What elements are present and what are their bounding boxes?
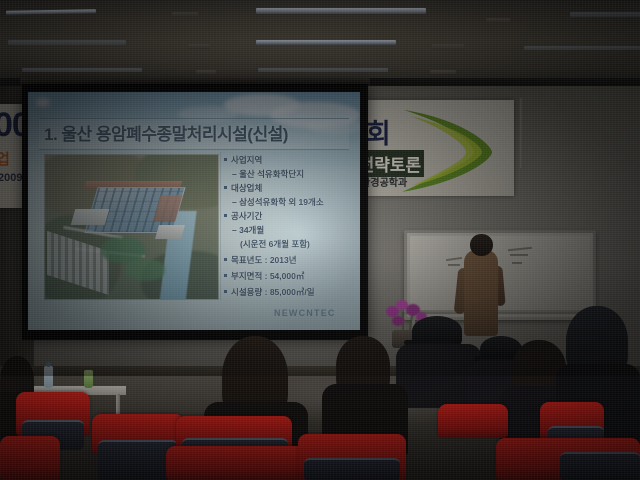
ceiling-light-tube xyxy=(256,40,396,45)
ceiling-light-tube xyxy=(22,68,142,72)
ceiling-vent xyxy=(486,18,510,23)
ceiling-light-tube xyxy=(8,40,126,45)
ceiling-light-tube xyxy=(524,46,640,50)
auditorium-seat[interactable] xyxy=(438,404,508,438)
ceiling-vent xyxy=(430,70,456,74)
ceiling-vent xyxy=(188,44,210,49)
seat-back-panel xyxy=(304,458,400,480)
auditorium-seat[interactable] xyxy=(166,446,308,480)
ceiling-vent xyxy=(196,70,216,74)
ceiling-vent xyxy=(432,44,464,50)
wall-vignette xyxy=(0,86,640,376)
auditorium-seat[interactable] xyxy=(0,436,60,480)
ceiling-light-tube xyxy=(570,12,640,17)
ceiling-light-tube xyxy=(258,68,388,72)
lecture-hall-photo: 00 업 2009. 수회 공전략토론 학교 환경공학과 1. 울산 용암폐수종… xyxy=(0,0,640,480)
ceiling-vent xyxy=(172,12,198,17)
seat-back-panel xyxy=(560,452,640,480)
ceiling-light-tube xyxy=(256,8,426,14)
